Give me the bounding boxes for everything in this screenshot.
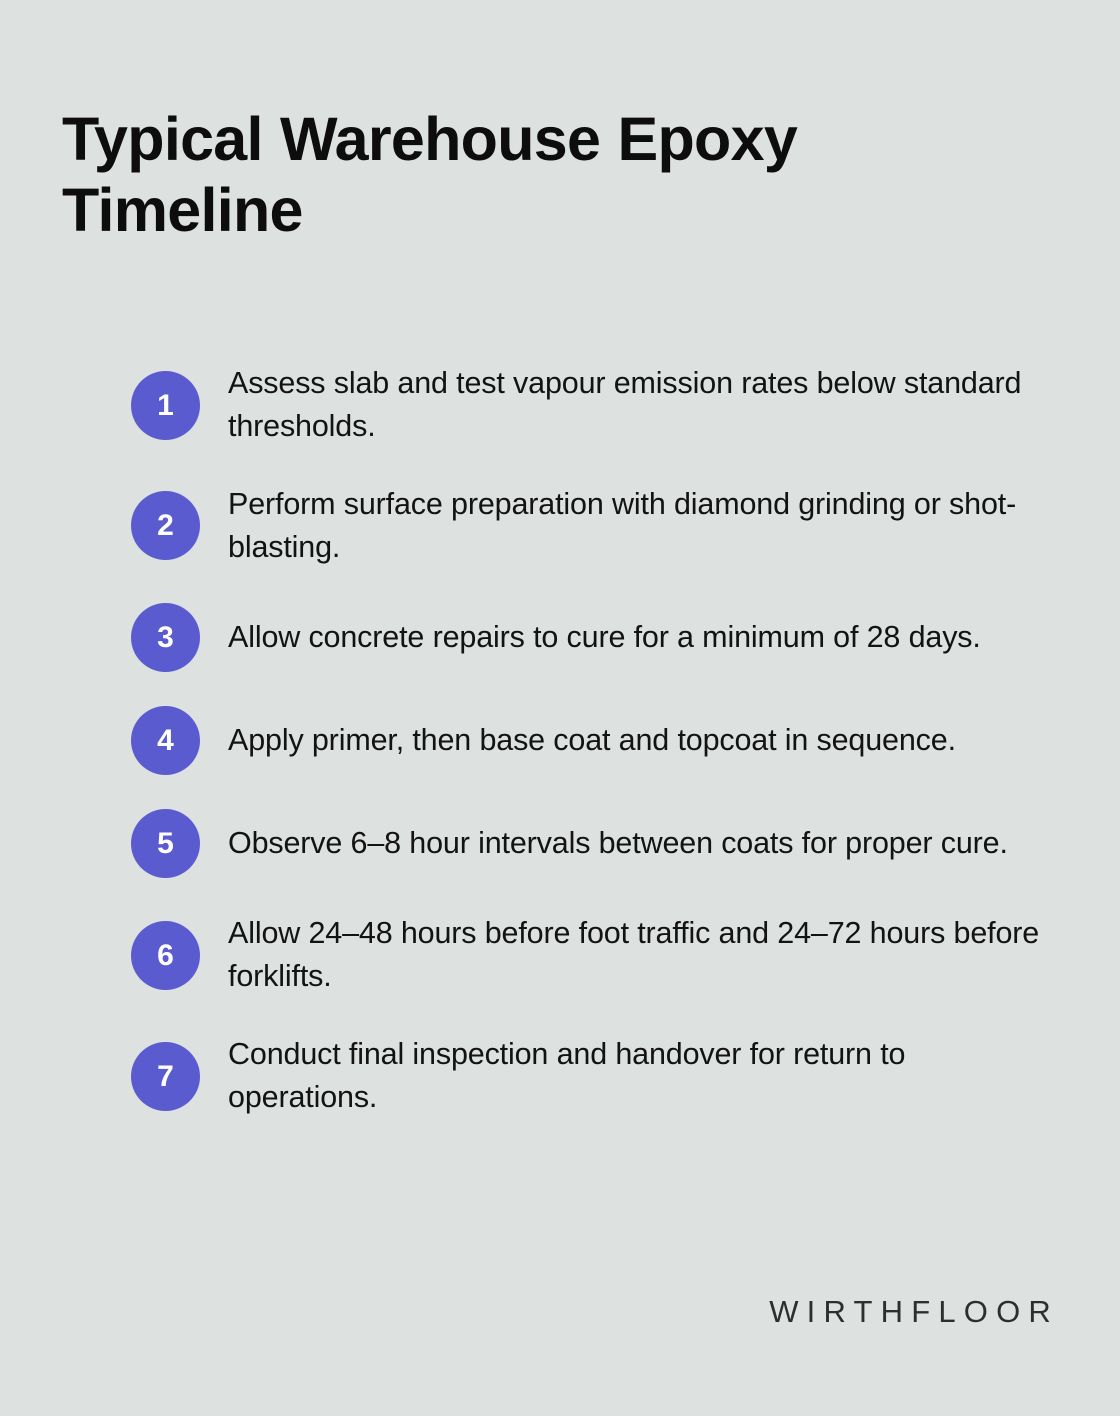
- step-description: Assess slab and test vapour emission rat…: [228, 362, 1040, 449]
- step-description: Allow concrete repairs to cure for a min…: [228, 616, 1040, 659]
- list-item: 2 Perform surface preparation with diamo…: [131, 483, 1041, 570]
- list-item: 5 Observe 6–8 hour intervals between coa…: [131, 809, 1041, 878]
- step-description: Apply primer, then base coat and topcoat…: [228, 719, 1040, 762]
- step-description: Allow 24–48 hours before foot traffic an…: [228, 912, 1040, 999]
- step-number-badge: 7: [131, 1042, 200, 1111]
- step-description: Conduct final inspection and handover fo…: [228, 1033, 1040, 1120]
- timeline-steps-list: 1 Assess slab and test vapour emission r…: [131, 362, 1041, 1119]
- step-number-badge: 1: [131, 371, 200, 440]
- step-number-badge: 5: [131, 809, 200, 878]
- list-item: 4 Apply primer, then base coat and topco…: [131, 706, 1041, 775]
- page-title: Typical Warehouse Epoxy Timeline: [62, 104, 922, 247]
- brand-logo: WIRTHFLOOR: [769, 1294, 1059, 1330]
- step-number-badge: 6: [131, 921, 200, 990]
- list-item: 7 Conduct final inspection and handover …: [131, 1033, 1041, 1120]
- step-number-badge: 3: [131, 603, 200, 672]
- title-block: Typical Warehouse Epoxy Timeline: [62, 104, 922, 247]
- infographic-poster: Typical Warehouse Epoxy Timeline 1 Asses…: [0, 0, 1120, 1416]
- step-number-badge: 2: [131, 491, 200, 560]
- step-number-badge: 4: [131, 706, 200, 775]
- list-item: 3 Allow concrete repairs to cure for a m…: [131, 603, 1041, 672]
- list-item: 6 Allow 24–48 hours before foot traffic …: [131, 912, 1041, 999]
- step-description: Observe 6–8 hour intervals between coats…: [228, 822, 1040, 865]
- footer: WIRTHFLOOR: [769, 1294, 1059, 1330]
- list-item: 1 Assess slab and test vapour emission r…: [131, 362, 1041, 449]
- step-description: Perform surface preparation with diamond…: [228, 483, 1040, 570]
